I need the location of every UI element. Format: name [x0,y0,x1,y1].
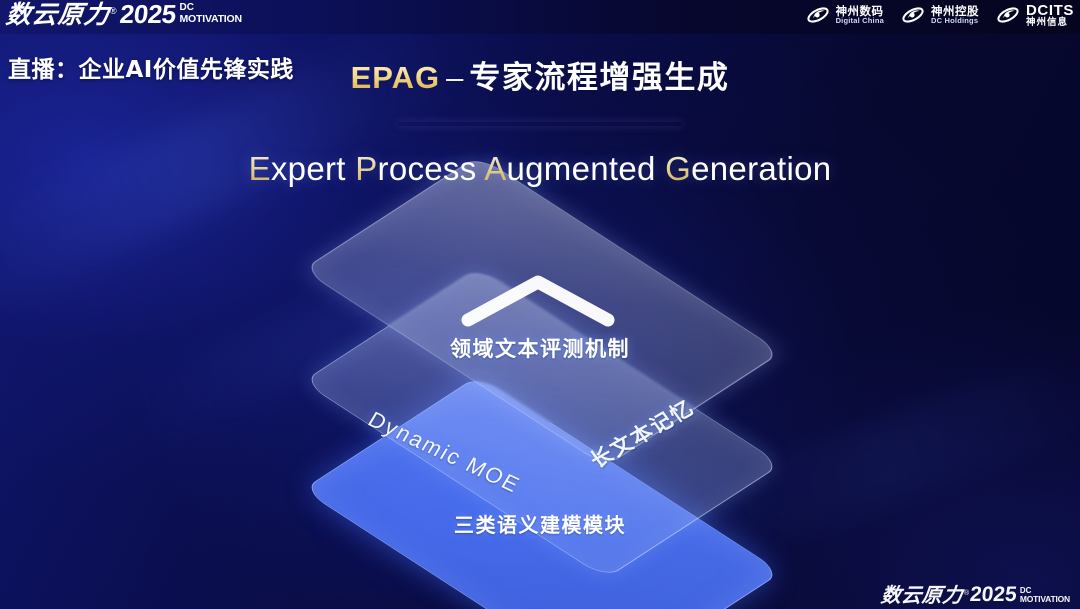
brand-registered-mark: ® [110,7,117,16]
title-chinese: 专家流程增强生成 [469,60,729,96]
watermark-dc-motivation: DC MOTIVATION [1020,587,1070,605]
partner-text-block: DCITS 神州信息 [1026,3,1074,28]
partner-name-en: DC Holdings [931,17,979,25]
watermark-registered-mark: ® [964,590,969,597]
watermark-name-cn: 数云原力 [880,585,964,605]
partner-name-cn: 神州信息 [1026,18,1074,28]
brand-logo: 数云原力 ® 2025 DC MOTIVATION [6,1,242,27]
subtitle-rest-expert: xpert [271,150,346,187]
live-stream-title: 直播：企业AI价值先锋实践 [8,50,294,84]
partner-text-block: 神州数码 Digital China [836,5,884,25]
title-acronym: EPAG [351,60,441,95]
partner-logo-dcits: DCITS 神州信息 [995,2,1074,28]
title-divider [398,122,682,126]
partner-logo-group: 神州数码 Digital China 神州控股 DC Holdings [805,2,1074,28]
watermark-logo: 数云原力 ® 2025 DC MOTIVATION [881,584,1070,605]
subtitle-rest-process: rocess [378,150,477,187]
subtitle-cap-a: A [484,150,506,187]
subtitle-cap-g: G [665,150,691,187]
diagram-label-bottom: 三类语义建模模块 [0,509,1080,538]
swirl-logo-icon [900,2,926,28]
brand-dc-motivation: DC MOTIVATION [180,3,242,27]
diagram-label-top: 领域文本评测机制 [0,333,1080,363]
partner-name-en: DCITS [1026,3,1074,18]
brand-motivation-label: MOTIVATION [180,14,242,25]
swirl-logo-icon [805,2,831,28]
partner-name-en: Digital China [836,17,884,25]
partner-logo-dc-holdings: 神州控股 DC Holdings [900,2,979,28]
swirl-logo-icon [995,2,1021,28]
subtitle-rest-augmented: ugmented [507,150,656,187]
watermark-year: 2025 [969,584,1018,605]
subtitle-expansion: Expert Process Augmented Generation [0,150,1080,188]
watermark-motivation-label: MOTIVATION [1020,595,1070,604]
slide-canvas: 数云原力 ® 2025 DC MOTIVATION 直播：企业AI价值先锋实践 … [0,0,1080,609]
brand-name-cn: 数云原力 [5,2,112,27]
partner-logo-digital-china: 神州数码 Digital China [805,2,884,28]
subtitle-rest-generation: eneration [691,150,831,187]
brand-year: 2025 [118,1,177,27]
partner-text-block: 神州控股 DC Holdings [931,5,979,25]
subtitle-cap-e: E [249,150,271,187]
subtitle-cap-p: P [355,150,377,187]
title-dash: – [440,60,469,95]
